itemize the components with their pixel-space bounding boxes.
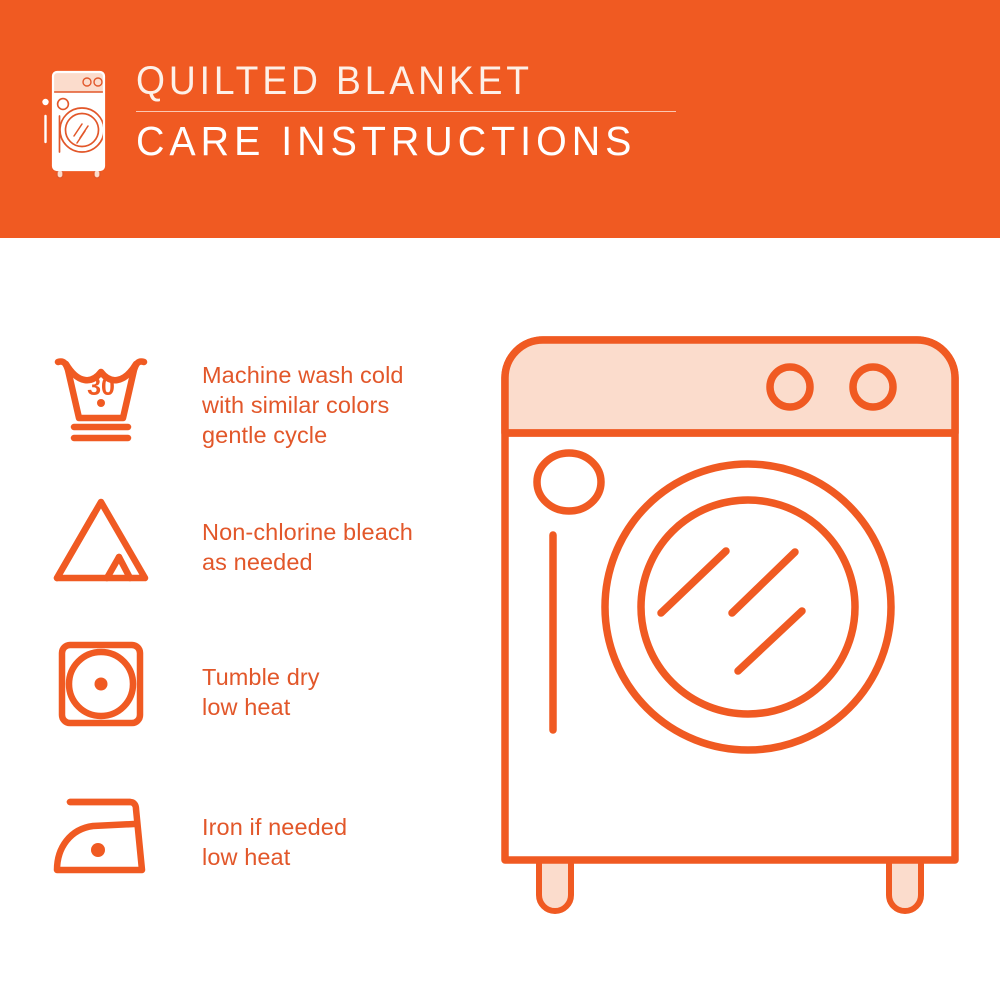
title-block: QUILTED BLANKET CARE INSTRUCTIONS — [136, 60, 676, 163]
care-item-iron: Iron if needed low heat — [48, 788, 488, 884]
care-item-bleach: Non-chlorine bleach as needed — [48, 493, 488, 589]
care-item-wash: 30 Machine wash cold with similar colors… — [48, 350, 488, 450]
care-instruction-list: 30 Machine wash cold with similar colors… — [0, 238, 500, 1000]
care-item-iron-text: Iron if needed low heat — [202, 812, 347, 872]
iron-icon — [48, 788, 154, 884]
wash-temperature-label: 30 — [87, 373, 115, 401]
tumble-dry-icon — [48, 638, 154, 734]
care-item-tumble-dry-text: Tumble dry low heat — [202, 662, 320, 722]
care-item-tumble-dry: Tumble dry low heat — [48, 638, 488, 734]
header-content: QUILTED BLANKET CARE INSTRUCTIONS — [42, 60, 676, 180]
page-title: QUILTED BLANKET — [136, 60, 638, 102]
header-banner: QUILTED BLANKET CARE INSTRUCTIONS — [0, 0, 1000, 238]
tumble-dry-dot-icon — [95, 678, 108, 691]
wash-dot-icon — [97, 399, 105, 407]
wash-tub-icon: 30 — [48, 350, 154, 446]
bleach-triangle-icon — [48, 493, 154, 589]
page-subtitle: CARE INSTRUCTIONS — [136, 120, 654, 163]
title-divider — [136, 111, 676, 112]
care-item-wash-text: Machine wash cold with similar colors ge… — [202, 360, 404, 450]
washing-machine-icon — [42, 68, 108, 180]
care-item-bleach-text: Non-chlorine bleach as needed — [202, 517, 413, 577]
front-load-washing-machine-illustration — [495, 330, 965, 930]
iron-dot-icon — [91, 843, 105, 857]
control-panel — [505, 340, 955, 433]
